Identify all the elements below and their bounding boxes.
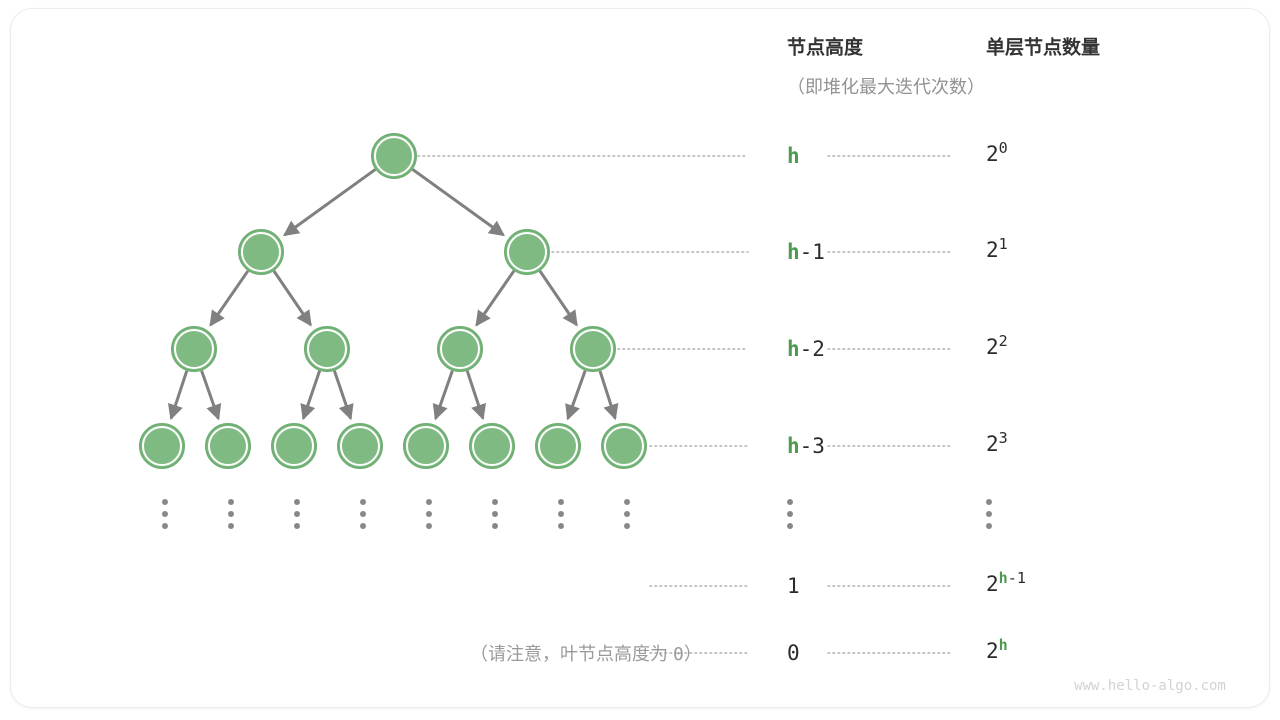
height-offset: -3 (800, 434, 825, 458)
figure-card (10, 8, 1270, 708)
count-exponent: 0 (999, 139, 1008, 157)
vertical-ellipsis-icon (986, 499, 992, 529)
vertical-ellipsis-icon (624, 499, 630, 529)
count-exponent: 3 (999, 429, 1008, 447)
count-base: 2 (986, 335, 999, 359)
watermark: www.hello-algo.com (1074, 678, 1226, 694)
count-base: 2 (986, 639, 999, 663)
height-offset: 1 (787, 574, 800, 598)
height-symbol: h (787, 337, 800, 361)
height-symbol: h (787, 144, 800, 168)
vertical-ellipsis-icon (492, 499, 498, 529)
count-base: 2 (986, 432, 999, 456)
vertical-ellipsis-icon (162, 499, 168, 529)
vertical-ellipsis-icon (787, 499, 793, 529)
count-exponent: 1 (999, 235, 1008, 253)
height-offset: 0 (787, 641, 800, 665)
height-offset: -2 (800, 337, 825, 361)
count-base: 2 (986, 238, 999, 262)
height-symbol: h (787, 434, 800, 458)
vertical-ellipsis-icon (228, 499, 234, 529)
vertical-ellipsis-icon (294, 499, 300, 529)
count-base: 2 (986, 572, 999, 596)
count-base: 2 (986, 142, 999, 166)
count-exponent: h (999, 636, 1008, 654)
height-offset: -1 (800, 240, 825, 264)
vertical-ellipsis-icon (426, 499, 432, 529)
count-exponent: h-1 (999, 569, 1026, 587)
vertical-ellipsis-icon (360, 499, 366, 529)
vertical-ellipsis-icon (558, 499, 564, 529)
height-symbol: h (787, 240, 800, 264)
count-exponent: 2 (999, 332, 1008, 350)
figure-canvas: 节点高度 （即堆化最大迭代次数） 单层节点数量 h20h-121h-222h-3… (0, 0, 1280, 720)
